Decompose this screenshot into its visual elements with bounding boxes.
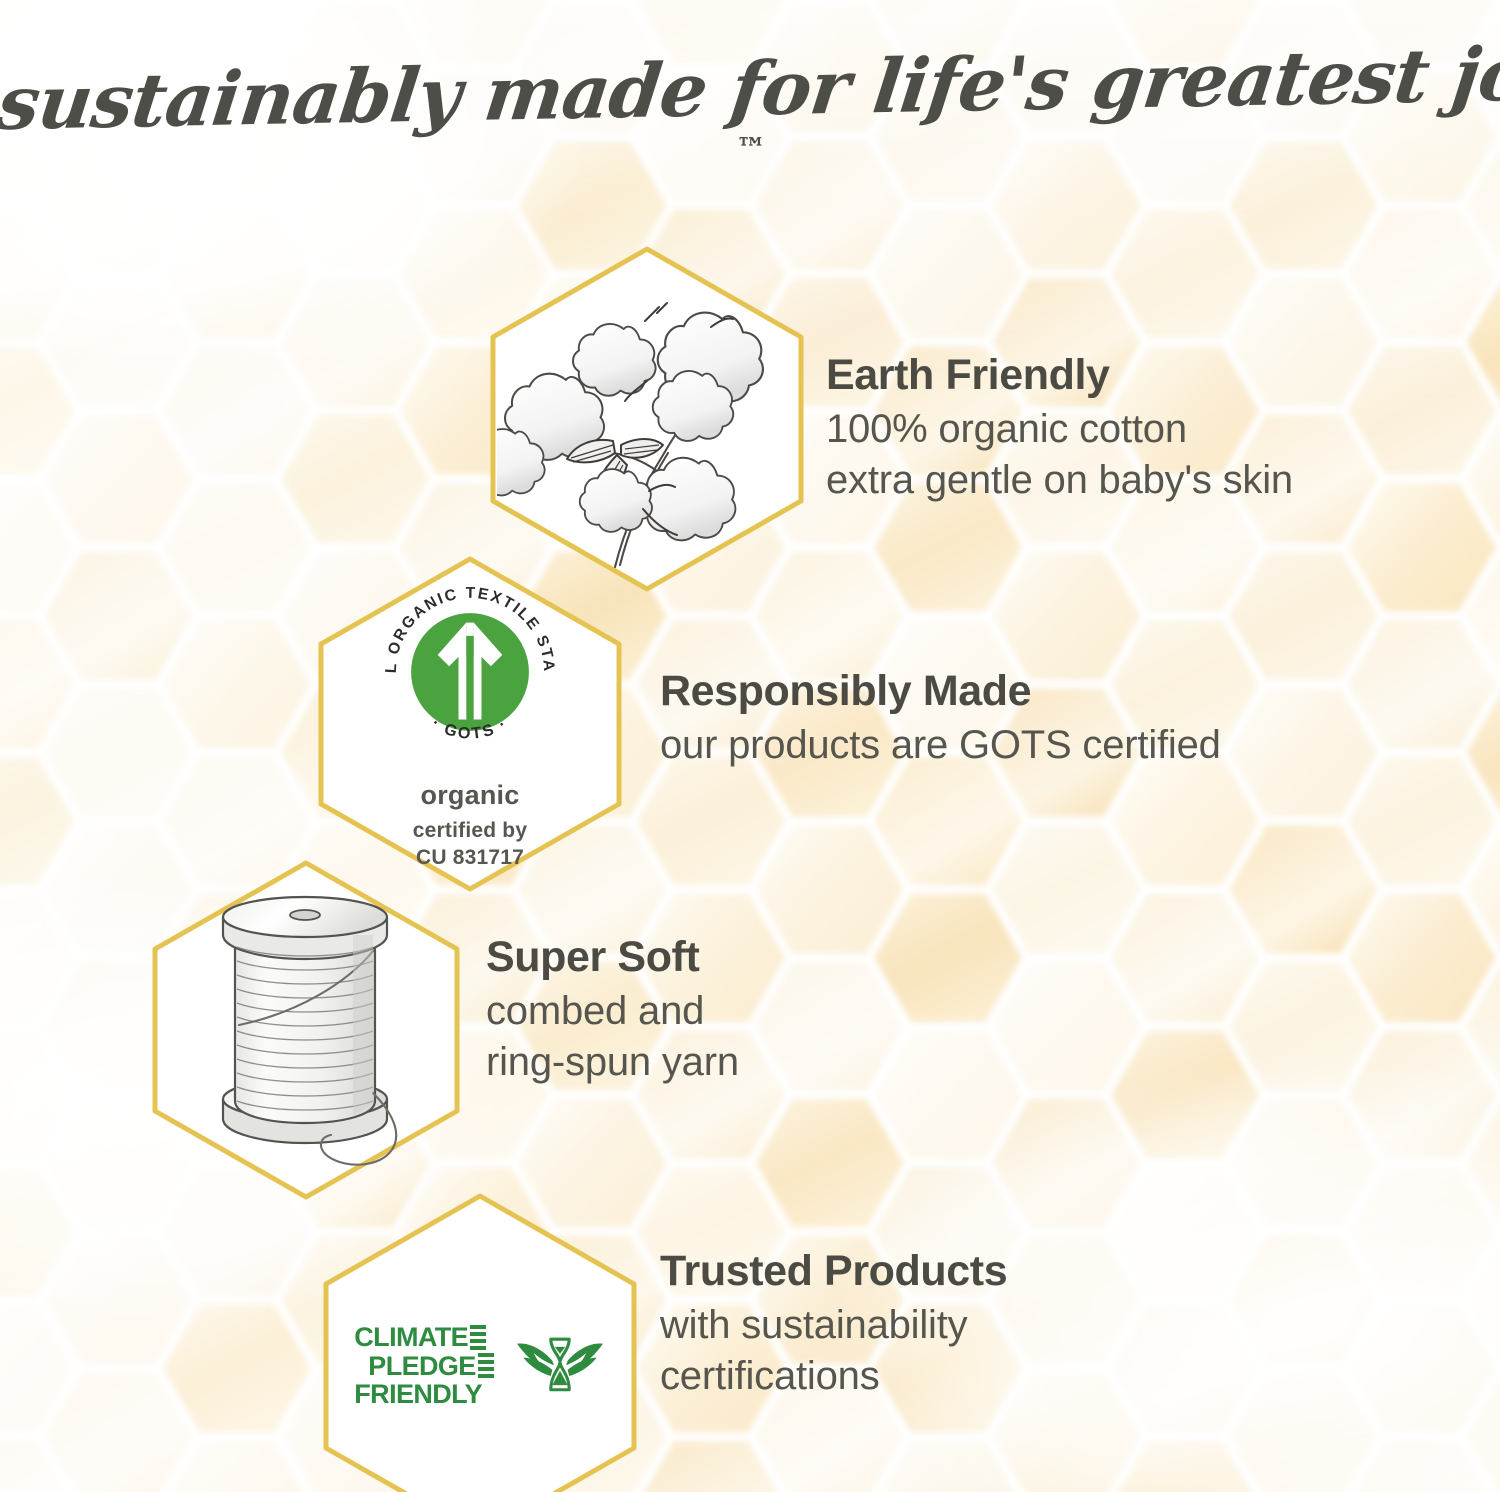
- cpf-line-2: PLEDGE: [368, 1352, 475, 1381]
- feature-line: ring-spun yarn: [486, 1037, 739, 1087]
- feature-line: 100% organic cotton: [826, 404, 1293, 454]
- thread-spool-icon: [177, 885, 435, 1175]
- feature-title: Earth Friendly: [826, 352, 1293, 398]
- feature-text-super-soft: Super Soft combed and ring-spun yarn: [486, 934, 739, 1087]
- gots-certification-badge: GLOBAL ORGANIC TEXTILE STANDARD · GOTS ·…: [375, 577, 565, 872]
- cpf-bars-icon: [478, 1353, 494, 1378]
- feature-text-trusted-products: Trusted Products with sustainability cer…: [660, 1248, 1007, 1401]
- feature-line: our products are GOTS certified: [660, 720, 1221, 770]
- cpf-bars-icon: [470, 1325, 486, 1350]
- headline-text: sustainably made for life's greatest joy: [0, 31, 1500, 147]
- feature-hexagon-responsibly-made: GLOBAL ORGANIC TEXTILE STANDARD · GOTS ·…: [311, 554, 629, 894]
- cpf-line-1: CLIMATE: [354, 1323, 468, 1352]
- trademark-symbol: ™: [736, 132, 766, 167]
- feature-title: Trusted Products: [660, 1248, 1007, 1294]
- winged-hourglass-icon: [514, 1331, 606, 1401]
- gots-logo-icon: GLOBAL ORGANIC TEXTILE STANDARD · GOTS ·: [375, 577, 565, 767]
- gots-organic-label: organic: [421, 780, 520, 811]
- page-headline: sustainably made for life's greatest joy…: [0, 46, 1500, 170]
- feature-title: Responsibly Made: [660, 668, 1221, 714]
- feature-hexagon-super-soft: [145, 858, 467, 1202]
- gots-certified-by-label: certified by: [413, 818, 527, 845]
- feature-line: certifications: [660, 1351, 1007, 1401]
- feature-text-earth-friendly: Earth Friendly 100% organic cotton extra…: [826, 352, 1293, 505]
- feature-text-responsibly-made: Responsibly Made our products are GOTS c…: [660, 668, 1221, 771]
- cotton-branch-icon: [497, 259, 797, 579]
- feature-line: combed and: [486, 986, 739, 1036]
- climate-pledge-friendly-badge: CLIMATE PLEDGE FRIENDLY: [354, 1323, 605, 1409]
- feature-hexagon-earth-friendly: [482, 243, 812, 595]
- feature-title: Super Soft: [486, 934, 739, 980]
- feature-line: with sustainability: [660, 1300, 1007, 1350]
- cpf-line-3: FRIENDLY: [354, 1380, 482, 1409]
- product-infographic: sustainably made for life's greatest joy…: [0, 0, 1500, 1492]
- feature-hexagon-trusted-products: CLIMATE PLEDGE FRIENDLY: [315, 1190, 645, 1492]
- feature-line: extra gentle on baby's skin: [826, 455, 1293, 505]
